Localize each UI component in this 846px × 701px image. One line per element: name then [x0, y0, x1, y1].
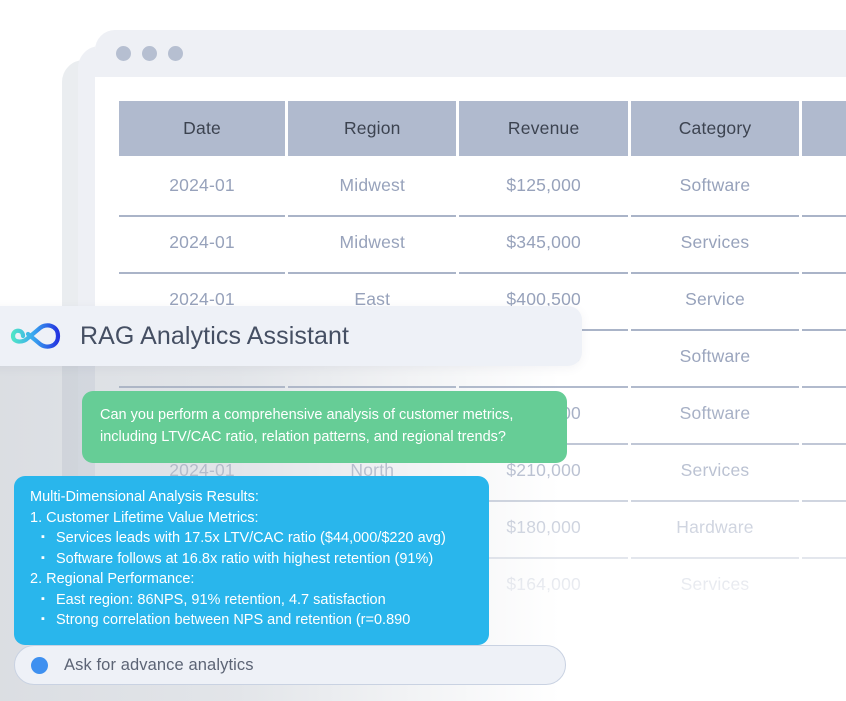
- chat-title: RAG Analytics Assistant: [80, 322, 349, 351]
- cell-category: Service: [631, 272, 799, 325]
- cell-satisfaction: 7.1: [802, 443, 846, 496]
- cell-region: Midwest: [288, 160, 456, 211]
- cell-satisfaction: 6.2: [802, 386, 846, 439]
- column-header-region[interactable]: Region: [288, 101, 456, 156]
- assistant-section-1-title: 1. Customer Lifetime Value Metrics:: [30, 508, 473, 529]
- cell-date: 2024-01: [119, 215, 285, 268]
- cell-revenue: $345,000: [459, 215, 627, 268]
- assistant-section-1-list: Services leads with 17.5x LTV/CAC ratio …: [30, 528, 473, 569]
- cell-category: Software: [631, 160, 799, 211]
- cell-date: 2024-01: [119, 160, 285, 211]
- cell-category: Software: [631, 386, 799, 439]
- chat-input-placeholder[interactable]: Ask for advance analytics: [64, 656, 254, 675]
- cell-satisfaction: 5.8: [802, 215, 846, 268]
- column-header-date[interactable]: Date: [119, 101, 285, 156]
- list-item: Software follows at 16.8x ratio with hig…: [56, 549, 473, 570]
- column-header-satisfaction[interactable]: Satisfaction: [802, 101, 846, 156]
- cell-category: Software: [631, 329, 799, 382]
- chat-composer[interactable]: Ask for advance analytics: [14, 645, 566, 685]
- column-header-revenue[interactable]: Revenue: [459, 101, 627, 156]
- infinity-logo-icon: [10, 321, 62, 351]
- window-dot-maximize-icon[interactable]: [168, 46, 183, 61]
- cell-category: Services: [631, 215, 799, 268]
- cell-satisfaction: 4.2: [802, 329, 846, 382]
- cell-region: Midwest: [288, 215, 456, 268]
- status-dot-icon: [31, 657, 48, 674]
- column-header-category[interactable]: Category: [631, 101, 799, 156]
- window-dot-minimize-icon[interactable]: [142, 46, 157, 61]
- cell-satisfaction: 3.2: [802, 500, 846, 553]
- window-titlebar: [95, 30, 846, 77]
- assistant-message-bubble: Multi-Dimensional Analysis Results: 1. C…: [14, 476, 489, 645]
- assistant-section-2-list: East region: 86NPS, 91% retention, 4.7 s…: [30, 590, 473, 631]
- list-item: Strong correlation between NPS and reten…: [56, 610, 473, 631]
- cell-category: Services: [631, 443, 799, 496]
- table-header-row: Date Region Revenue Category Satisfactio…: [119, 101, 846, 156]
- cell-category: Hardware: [631, 500, 799, 553]
- assistant-section-2-title: 2. Regional Performance:: [30, 569, 473, 590]
- cell-category: Services: [631, 557, 799, 610]
- chat-header: RAG Analytics Assistant: [0, 306, 582, 366]
- table-row[interactable]: 2024-01 Midwest $345,000 Services 5.8: [119, 215, 846, 268]
- cell-satisfaction: 4.8: [802, 160, 846, 211]
- table-row[interactable]: 2024-01 Midwest $125,000 Software 4.8: [119, 160, 846, 211]
- screen-stage: Date Region Revenue Category Satisfactio…: [0, 0, 846, 701]
- user-message-line-1: Can you perform a comprehensive analysis…: [100, 404, 549, 426]
- list-item: Services leads with 17.5x LTV/CAC ratio …: [56, 528, 473, 549]
- assistant-heading: Multi-Dimensional Analysis Results:: [30, 487, 473, 508]
- window-dot-close-icon[interactable]: [116, 46, 131, 61]
- cell-satisfaction: 4.5: [802, 557, 846, 610]
- user-message-bubble: Can you perform a comprehensive analysis…: [82, 391, 567, 463]
- user-message-line-2: including LTV/CAC ratio, relation patter…: [100, 426, 549, 448]
- list-item: East region: 86NPS, 91% retention, 4.7 s…: [56, 590, 473, 611]
- cell-satisfaction: 3.2: [802, 272, 846, 325]
- cell-revenue: $125,000: [459, 160, 627, 211]
